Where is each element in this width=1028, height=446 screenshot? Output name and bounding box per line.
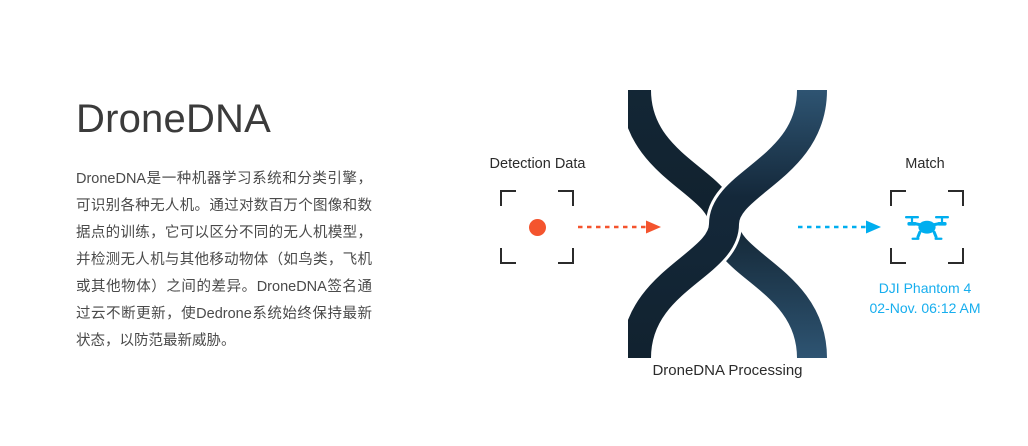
intro-text-column: DroneDNA DroneDNA是一种机器学习系统和分类引擎，可识别各种无人机… xyxy=(76,98,376,355)
frame-corner-top-right-icon xyxy=(948,190,964,206)
frame-corner-bottom-right-icon xyxy=(948,248,964,264)
frame-corner-top-left-icon xyxy=(500,190,516,206)
frame-corner-bottom-right-icon xyxy=(558,248,574,264)
frame-corner-bottom-left-icon xyxy=(890,248,906,264)
match-model-name: DJI Phantom 4 xyxy=(850,278,1000,298)
dashed-arrow-right-icon-processing-to-match xyxy=(798,218,884,236)
detection-crosshair-frame-icon xyxy=(500,190,574,264)
frame-corner-bottom-left-icon xyxy=(500,248,516,264)
match-label: Match xyxy=(860,156,990,172)
frame-corner-top-left-icon xyxy=(890,190,906,206)
dronedna-process-diagram: Detection Data xyxy=(460,90,1000,390)
page-description: DroneDNA是一种机器学习系统和分类引擎，可识别各种无人机。通过对数百万个图… xyxy=(76,166,372,355)
match-result-info: DJI Phantom 4 02-Nov. 06:12 AM xyxy=(850,278,1000,318)
match-timestamp: 02-Nov. 06:12 AM xyxy=(850,298,1000,318)
processing-label: DroneDNA Processing xyxy=(595,362,860,379)
frame-corner-top-right-icon xyxy=(558,190,574,206)
orange-dot-icon xyxy=(529,219,546,236)
drone-quadcopter-icon xyxy=(904,212,950,242)
match-crosshair-frame-icon xyxy=(890,190,964,264)
page-title: DroneDNA xyxy=(76,98,376,140)
detection-data-label: Detection Data xyxy=(460,156,615,172)
